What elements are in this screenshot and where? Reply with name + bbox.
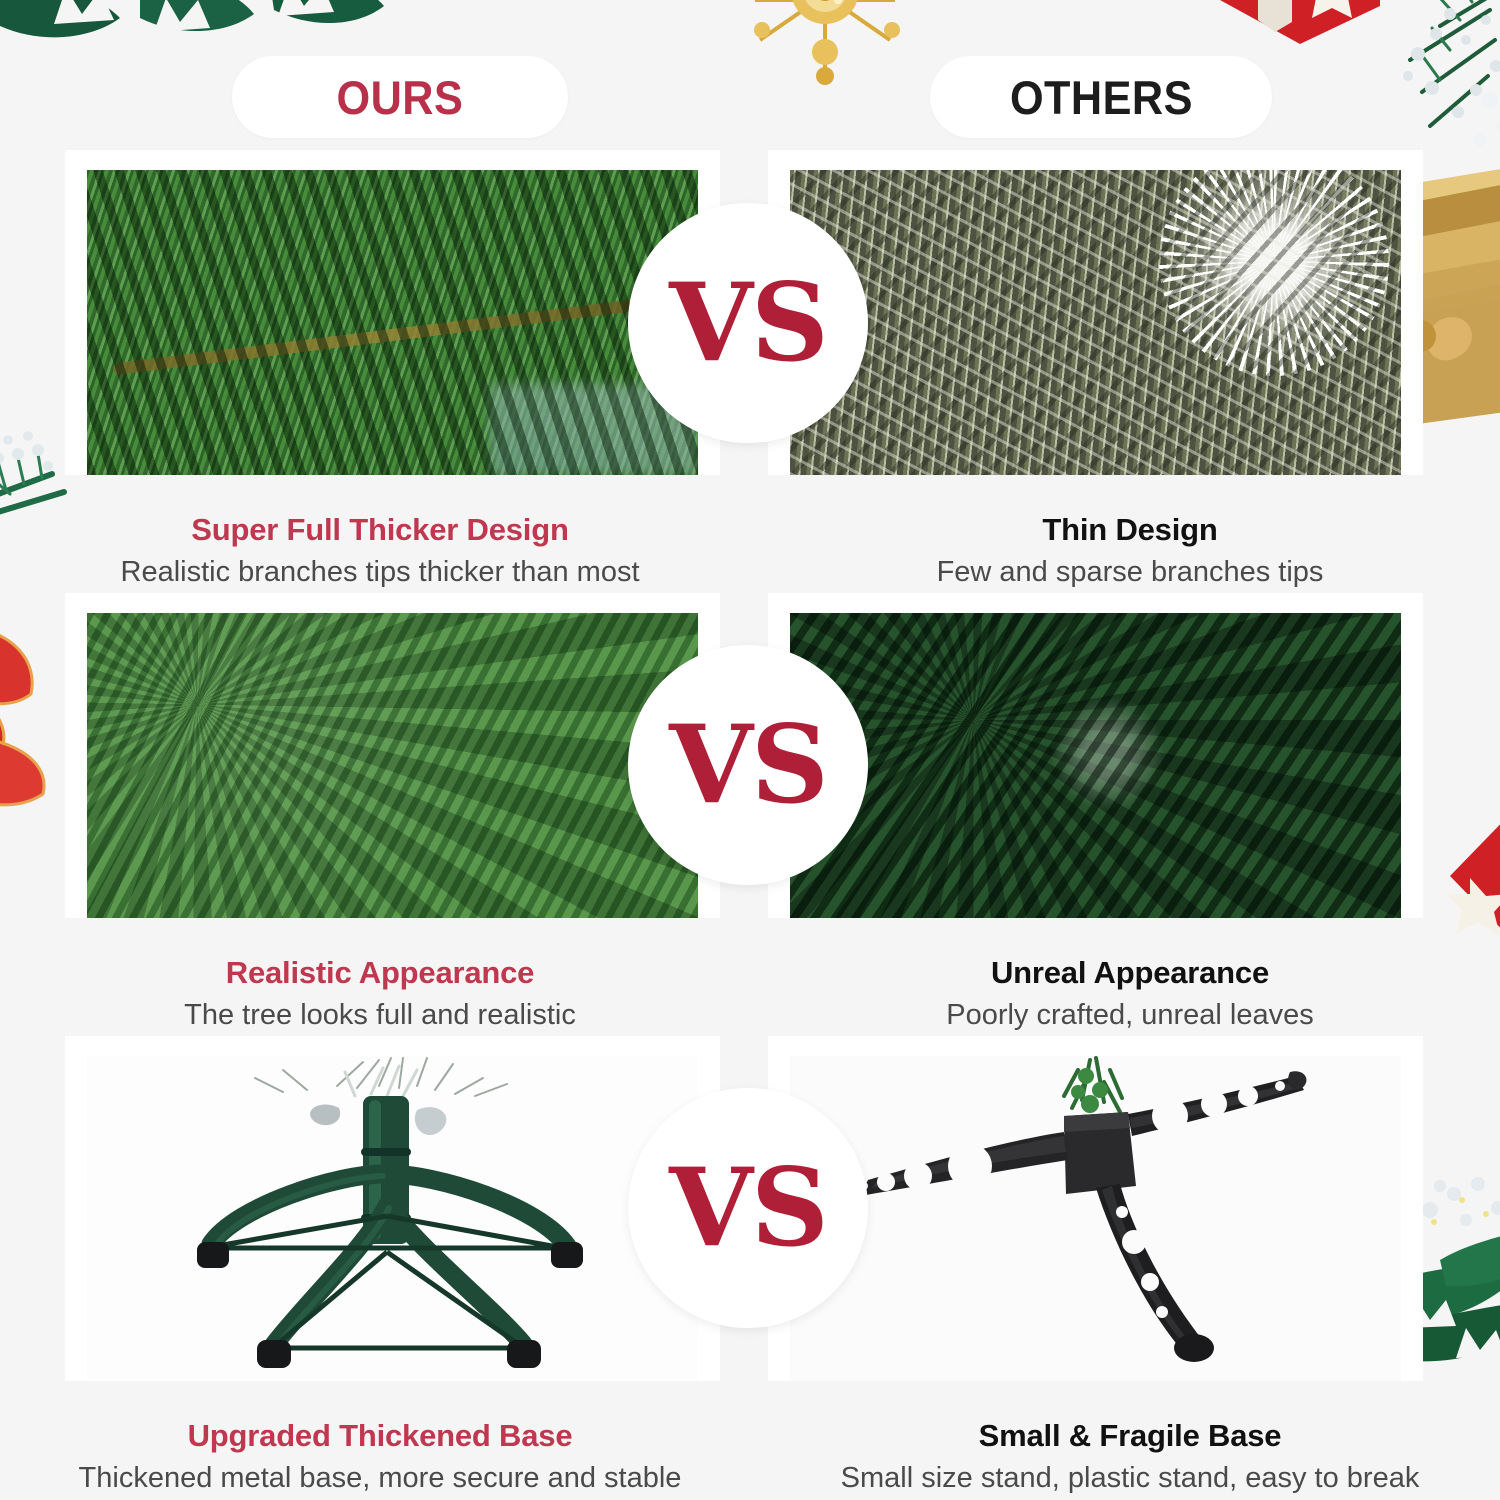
ours-caption-subtitle: The tree looks full and realistic (0, 999, 760, 1032)
full-realistic-green-tree-photo (87, 613, 698, 918)
vs-badge: VS (628, 1088, 868, 1328)
vs-badge: VS (628, 203, 868, 443)
row-captions: Realistic Appearance The tree looks full… (0, 938, 1500, 1038)
infographic-root: OURS OTHERS (0, 0, 1500, 1500)
ours-card (65, 593, 720, 918)
vs-badge: VS (628, 645, 868, 885)
others-caption-title: Small & Fragile Base (760, 1419, 1500, 1453)
row-captions: Super Full Thicker Design Realistic bran… (0, 495, 1500, 595)
others-caption-subtitle: Small size stand, plastic stand, easy to… (760, 1462, 1500, 1495)
thin-sparse-silver-needles-photo (790, 170, 1401, 475)
others-caption-subtitle: Few and sparse branches tips (760, 556, 1500, 589)
others-caption-title: Thin Design (760, 513, 1500, 547)
ours-header-label: OURS (337, 70, 464, 125)
thick-green-branch-closeup-photo (87, 170, 698, 475)
ours-caption-title: Upgraded Thickened Base (0, 1419, 760, 1453)
ours-caption-subtitle: Thickened metal base, more secure and st… (0, 1462, 760, 1495)
ours-header-pill: OURS (232, 56, 568, 138)
ours-card (65, 1036, 720, 1381)
others-header-pill: OTHERS (930, 56, 1272, 138)
row-captions: Upgraded Thickened Base Thickened metal … (0, 1401, 1500, 1500)
others-caption-title: Unreal Appearance (760, 956, 1500, 990)
dark-unreal-tree-photo (790, 613, 1401, 918)
ours-caption-title: Realistic Appearance (0, 956, 760, 990)
ours-caption-title: Super Full Thicker Design (0, 513, 760, 547)
ours-caption-subtitle: Realistic branches tips thicker than mos… (0, 556, 760, 589)
vs-badge-label: VS (669, 269, 827, 377)
green-metal-tree-stand-photo (87, 1056, 698, 1381)
comparison-header: OURS OTHERS (0, 56, 1500, 138)
vs-badge-label: VS (669, 711, 827, 819)
vs-badge-label: VS (669, 1154, 827, 1262)
ours-card (65, 150, 720, 475)
others-caption-subtitle: Poorly crafted, unreal leaves (760, 999, 1500, 1032)
others-header-label: OTHERS (1010, 70, 1193, 125)
black-plastic-tree-stand-photo (790, 1056, 1401, 1381)
